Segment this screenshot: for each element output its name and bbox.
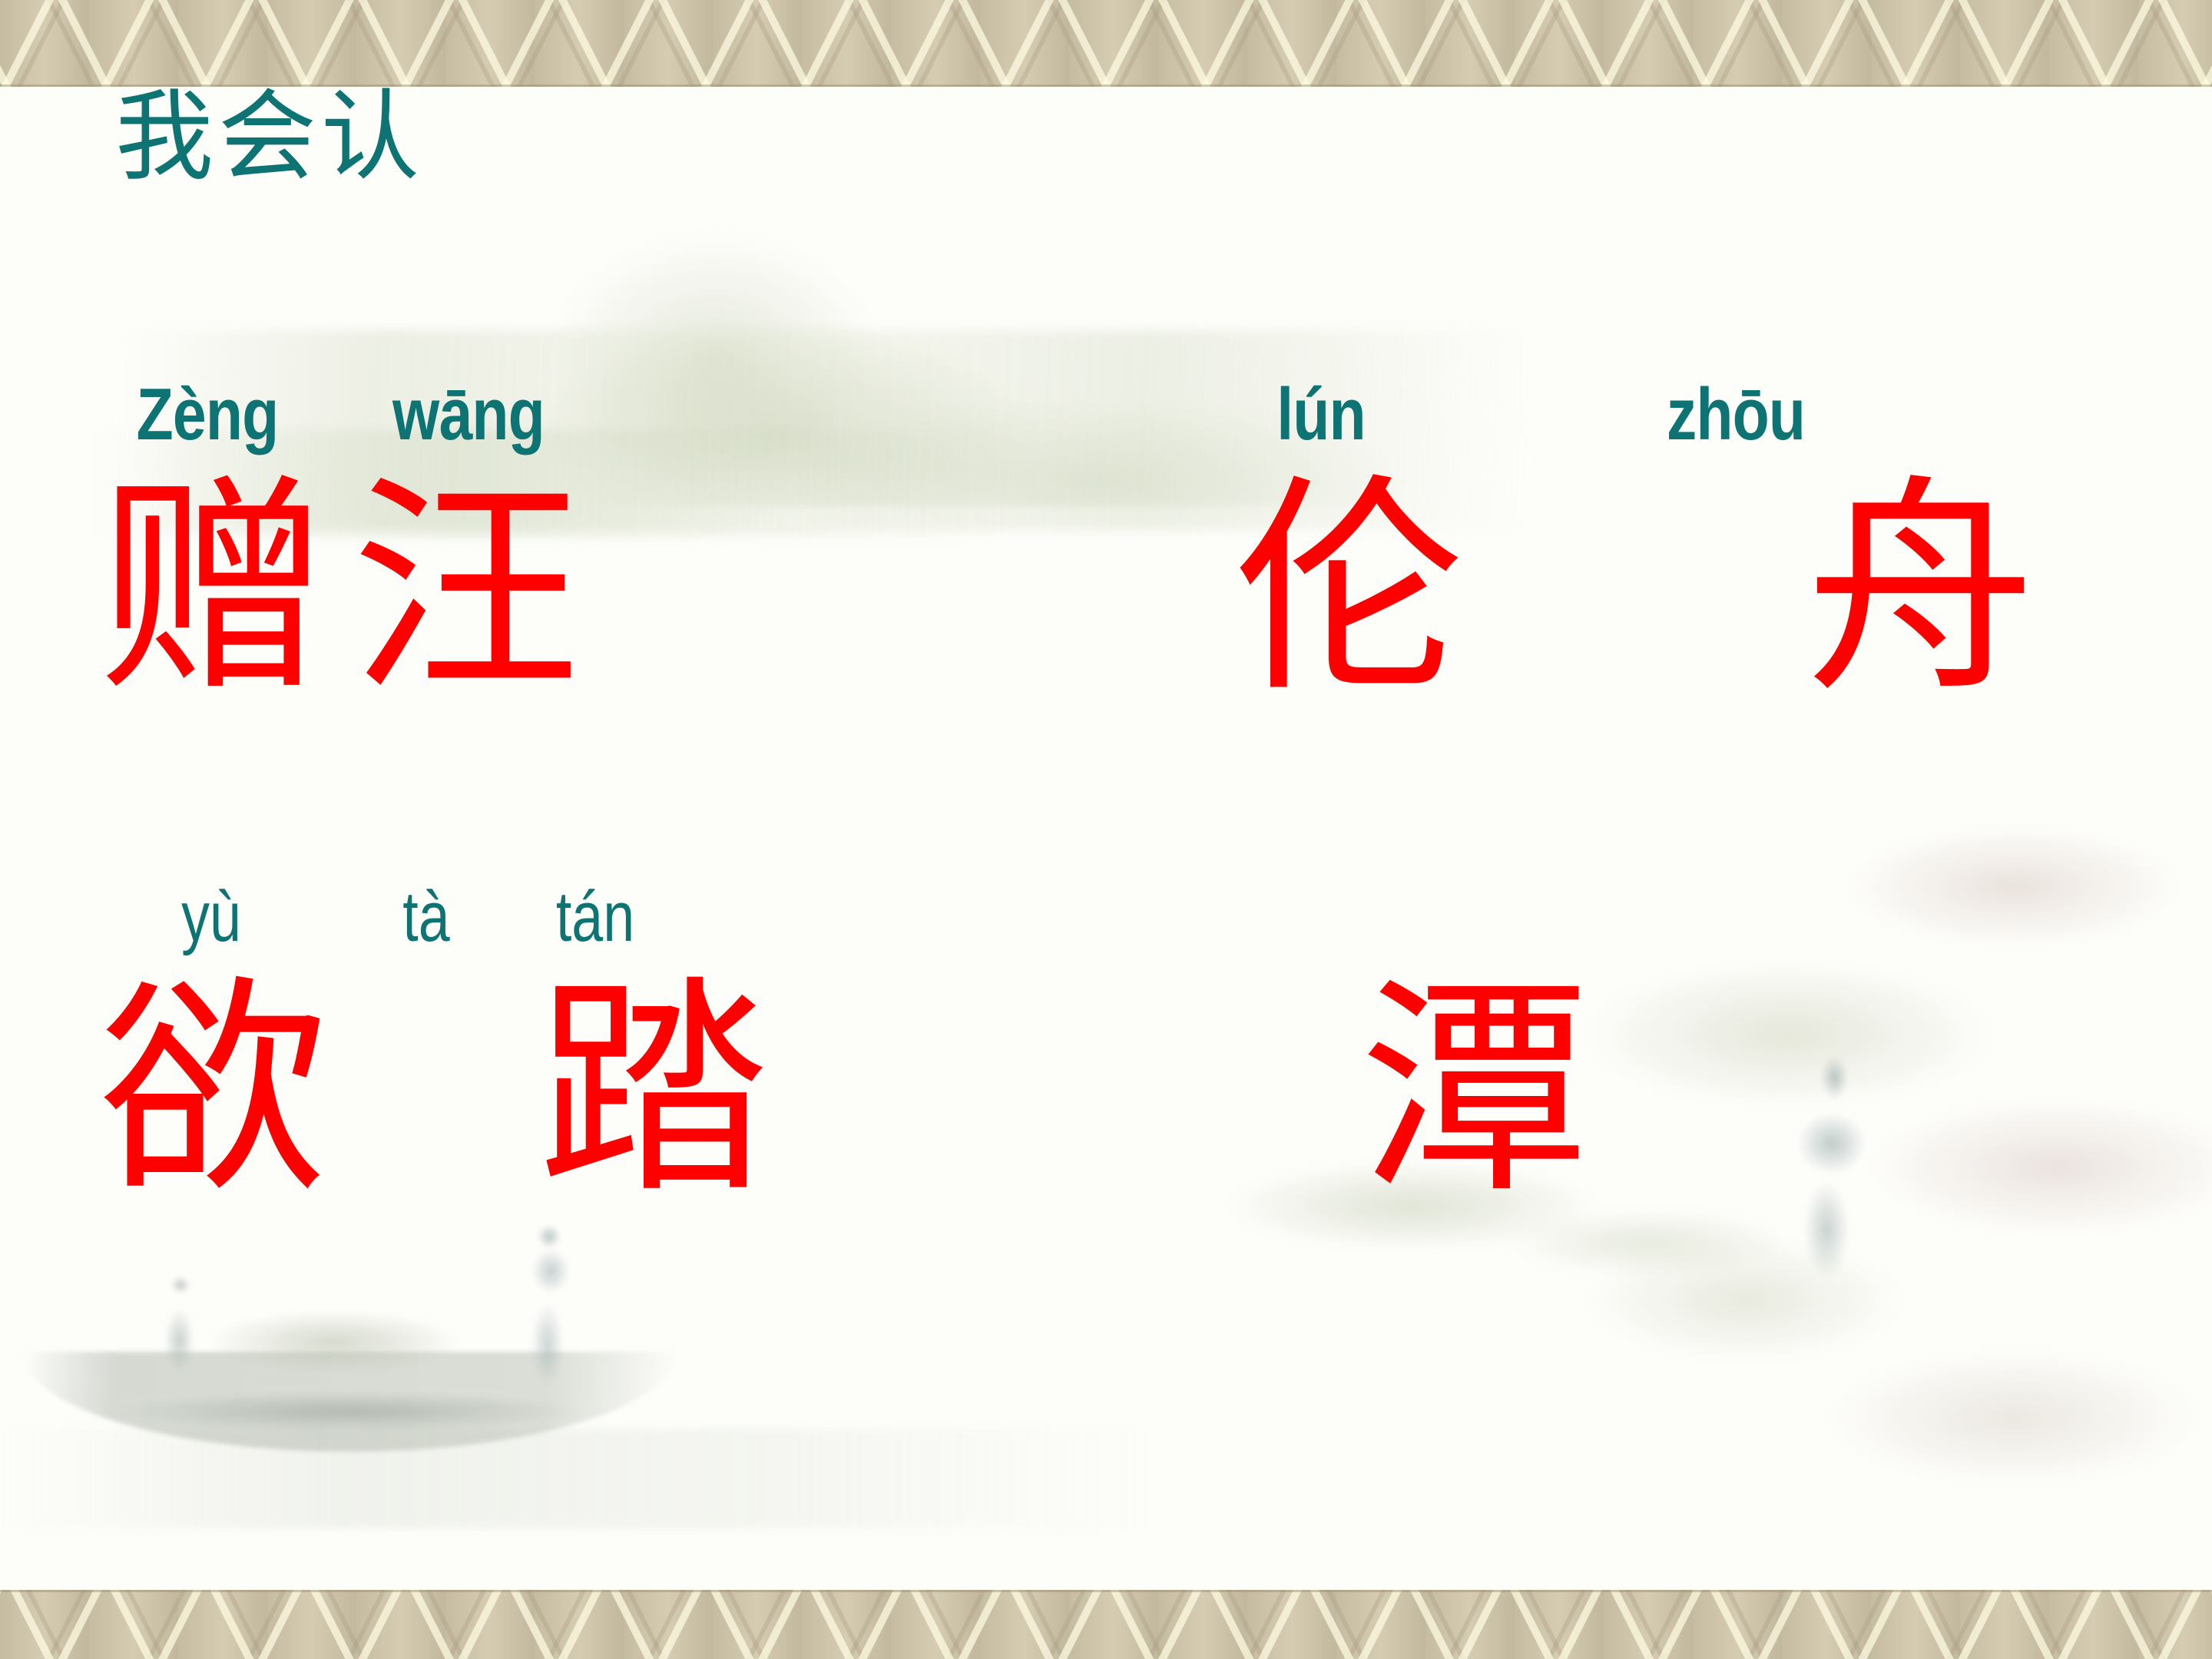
- pinyin-label: Zèng: [94, 378, 320, 452]
- character-cell[interactable]: tán 潭: [469, 882, 722, 1206]
- pinyin-label: lún: [1207, 378, 1434, 452]
- border-edge-line: [0, 1590, 2212, 1592]
- boat-cabin-watermark: [177, 1298, 492, 1382]
- pinyin-label: zhōu: [1622, 378, 1849, 452]
- hanzi-character[interactable]: 赠: [98, 455, 328, 724]
- pinyin-label: yù: [110, 882, 313, 952]
- triangle-pattern-icon: [0, 1590, 2212, 1659]
- top-decorative-border: [0, 0, 2212, 87]
- character-cell[interactable]: wāng 汪: [330, 378, 607, 705]
- hanzi-character[interactable]: 潭: [1359, 956, 1590, 1224]
- hanzi-character[interactable]: 汪: [351, 455, 581, 724]
- standing-figure-watermark: [1767, 1052, 1897, 1306]
- pinyin-label: wāng: [355, 378, 581, 452]
- water-watermark: [0, 1429, 1152, 1528]
- boat-hull-watermark: [23, 1352, 676, 1452]
- triangle-pattern-icon: [0, 0, 2212, 87]
- page-title: 我会认: [115, 88, 424, 187]
- character-cell[interactable]: lún 伦: [1183, 378, 1459, 705]
- blossom-trees-watermark: [1505, 783, 2212, 1521]
- hanzi-wrapper: 伦: [1233, 475, 1459, 705]
- hanzi-character[interactable]: 舟: [1805, 455, 2035, 724]
- slide-canvas: 我会认 Zèng 赠 wāng 汪 lún 伦 zhōu 舟 yù 欲 tà 踏: [0, 0, 2212, 1659]
- character-cell[interactable]: zhōu 舟: [1598, 378, 1874, 705]
- boat-standing-figure-watermark: [507, 1221, 591, 1413]
- character-cell[interactable]: Zèng 赠: [69, 378, 346, 705]
- hanzi-character[interactable]: 伦: [1233, 455, 1464, 724]
- hanzi-wrapper: 赠: [80, 475, 346, 705]
- hanzi-wrapper: 汪: [326, 475, 607, 705]
- bottom-decorative-border: [0, 1590, 2212, 1659]
- hanzi-wrapper: 舟: [1805, 475, 1874, 705]
- hanzi-character[interactable]: 欲: [98, 956, 329, 1224]
- pinyin-label: tán: [494, 882, 697, 952]
- boat-seated-figure-watermark: [150, 1271, 211, 1386]
